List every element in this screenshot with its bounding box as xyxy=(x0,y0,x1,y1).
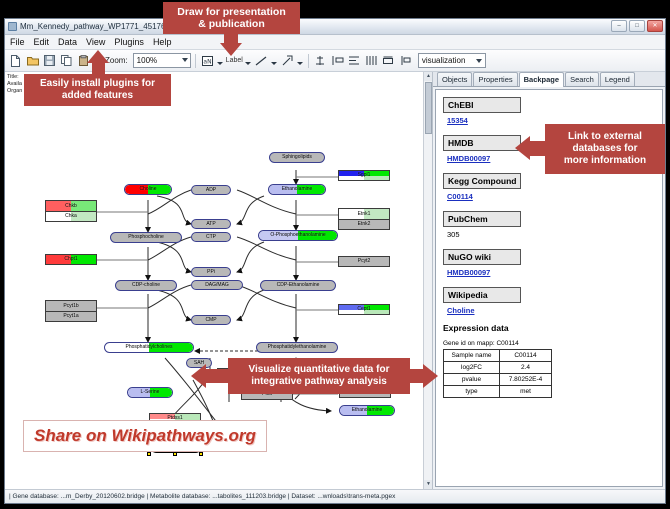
save-icon[interactable] xyxy=(42,53,57,69)
menu-help[interactable]: Help xyxy=(153,37,172,47)
node-label: Sphingolipids xyxy=(282,155,312,160)
node-label: Sgpl1 xyxy=(358,173,371,178)
node-ethanolamine-top[interactable]: Ethanolamine xyxy=(268,184,326,195)
node-label: L-Serine xyxy=(141,390,160,395)
row-key: pvalue xyxy=(444,374,500,386)
node-label: CDP-choline xyxy=(132,283,160,288)
menu-file[interactable]: File xyxy=(10,37,25,47)
status-bar: | Gene database: ...m_Derby_20120602.bri… xyxy=(5,489,665,503)
callout-visualize-arrow-left-icon xyxy=(191,364,206,388)
label-tool-label: Label xyxy=(226,57,243,64)
handle-se xyxy=(199,452,203,456)
expression-table: Sample name C00114 log2FC 2.4 pvalue 7.8… xyxy=(443,349,552,398)
section-heading-chebi: ChEBI xyxy=(443,97,521,113)
maximize-button[interactable]: □ xyxy=(629,20,645,32)
line-dropdown-icon[interactable] xyxy=(271,53,278,69)
callout-visualize-arrow-right-icon xyxy=(423,364,438,388)
minimize-button[interactable]: – xyxy=(611,20,627,32)
menu-bar: File Edit Data View Plugins Help xyxy=(5,35,665,50)
node-sphingolipids[interactable]: Sphingolipids xyxy=(269,152,325,163)
node-label: Ethanolamine xyxy=(352,408,383,413)
section-heading-kegg: Kegg Compound xyxy=(443,173,521,189)
callout-visualize-stem-left xyxy=(206,369,230,383)
node-label: O-Phosphoethanolamine xyxy=(270,233,325,238)
node-cmp[interactable]: CMP xyxy=(191,315,231,325)
node-ppi[interactable]: PPi xyxy=(191,267,231,277)
status-text: | Gene database: ...m_Derby_20120602.bri… xyxy=(9,493,395,500)
side-panel-tabs: Objects Properties Backpage Search Legen… xyxy=(433,72,665,87)
toolbar-separator xyxy=(308,54,309,68)
svg-text:aN: aN xyxy=(203,58,211,65)
align-center-icon[interactable] xyxy=(313,53,328,69)
node-label: Etnk2 xyxy=(358,222,371,227)
node-label: CMP xyxy=(205,318,216,323)
handle-s xyxy=(173,452,177,456)
table-row: pvalue 7.80252E-4 xyxy=(444,374,552,386)
menu-view[interactable]: View xyxy=(86,37,105,47)
node-dagmag[interactable]: DAG/MAG xyxy=(191,280,243,290)
scroll-up-icon[interactable]: ▲ xyxy=(424,72,433,81)
row-key: Sample name xyxy=(444,350,500,362)
node-label: PPi xyxy=(207,270,215,275)
order-icon[interactable] xyxy=(398,53,413,69)
row-value: C00114 xyxy=(500,350,552,362)
node-adp[interactable]: ADP xyxy=(191,185,231,195)
callout-visualize-stem-right xyxy=(408,369,424,383)
section-heading-hmdb: HMDB xyxy=(443,135,521,151)
row-key: type xyxy=(444,386,500,398)
section-heading-nugo: NuGO wiki xyxy=(443,249,521,265)
node-chkb[interactable]: Chkb xyxy=(45,200,97,211)
tab-legend[interactable]: Legend xyxy=(600,72,635,86)
node-l-serine-left[interactable]: L-Serine xyxy=(127,387,173,398)
callout-visualize: Visualize quantitative data for integrat… xyxy=(228,358,410,394)
datanode-icon[interactable]: aN xyxy=(200,53,215,69)
node-cdp-ethanolamine[interactable]: CDP-Ethanolamine xyxy=(260,280,336,291)
zoom-combo[interactable]: 100% xyxy=(133,53,191,68)
node-label: Pcyt1b xyxy=(63,304,78,309)
menu-data[interactable]: Data xyxy=(58,37,77,47)
wikipedia-link[interactable]: Choline xyxy=(447,306,655,315)
table-row: log2FC 2.4 xyxy=(444,362,552,374)
node-atp[interactable]: ATP xyxy=(191,219,231,229)
gene-id-line: Gene id on mapp: C00114 xyxy=(443,340,655,347)
node-etnk1[interactable]: Etnk1 xyxy=(338,208,390,219)
node-pcyt2[interactable]: Pcyt2 xyxy=(338,256,390,267)
table-row: type met xyxy=(444,386,552,398)
expression-data-title: Expression data xyxy=(443,323,655,333)
node-choline-top[interactable]: Choline xyxy=(124,184,172,195)
node-cdp-choline[interactable]: CDP-choline xyxy=(115,280,177,291)
node-label: Chkb xyxy=(65,204,77,209)
label-dropdown-icon[interactable] xyxy=(245,53,252,69)
copy-icon[interactable] xyxy=(59,53,74,69)
node-label: CTP xyxy=(206,235,216,240)
node-etnk2[interactable]: Etnk2 xyxy=(338,219,390,230)
arrow-dropdown-icon[interactable] xyxy=(297,53,304,69)
node-sgpl1[interactable]: Sgpl1 xyxy=(338,170,390,181)
node-cept1[interactable]: Cept1 xyxy=(338,304,390,315)
node-chpt1[interactable]: Chpt1 xyxy=(45,254,97,265)
align-left-icon[interactable] xyxy=(330,53,345,69)
menu-plugins[interactable]: Plugins xyxy=(114,37,144,47)
row-value: 7.80252E-4 xyxy=(500,374,552,386)
close-button[interactable]: ✕ xyxy=(647,20,663,32)
share-banner: Share on Wikipathways.org xyxy=(23,420,267,452)
nugo-link[interactable]: HMDB00097 xyxy=(447,268,655,277)
open-folder-icon[interactable] xyxy=(25,53,40,69)
callout-links-stem xyxy=(530,141,546,156)
node-label: Phosphatidylcholines xyxy=(126,345,173,350)
handle-sw xyxy=(147,452,151,456)
tab-search[interactable]: Search xyxy=(565,72,599,86)
zoom-value: 100% xyxy=(137,56,157,65)
node-label: Ethanolamine xyxy=(282,187,313,192)
node-pcyt1b[interactable]: Pcyt1b xyxy=(45,300,97,311)
node-label: Cept1 xyxy=(357,307,370,312)
arrow-shape-icon[interactable] xyxy=(280,53,295,69)
callout-plugins: Easily install plugins for added feature… xyxy=(24,74,171,106)
node-label: ATP xyxy=(206,222,215,227)
node-label: Phosphocholine xyxy=(128,235,164,240)
line-icon[interactable] xyxy=(254,53,269,69)
table-row: Sample name C00114 xyxy=(444,350,552,362)
canvas-scrollbar-vertical[interactable]: ▲ ▼ xyxy=(423,72,432,489)
node-label: Choline xyxy=(140,187,157,192)
node-phosphatidylcholines[interactable]: Phosphatidylcholines xyxy=(104,342,194,353)
tab-backpage[interactable]: Backpage xyxy=(519,72,564,87)
node-label: Chpt1 xyxy=(64,257,77,262)
row-value: met xyxy=(500,386,552,398)
toolbar-separator xyxy=(195,54,196,68)
node-label: Pcyt2 xyxy=(358,259,371,264)
node-ethanolamine-bottom[interactable]: Ethanolamine xyxy=(339,405,395,416)
callout-links: Link to external databases for more info… xyxy=(545,124,665,174)
node-o-phosphoethanolamine[interactable]: O-Phosphoethanolamine xyxy=(258,230,338,241)
node-label: CDP-Ethanolamine xyxy=(277,283,320,288)
tab-properties[interactable]: Properties xyxy=(473,72,517,86)
callout-draw: Draw for presentation & publication xyxy=(163,2,300,34)
row-key: log2FC xyxy=(444,362,500,374)
title-bar: Mm_Kennedy_pathway_WP1771_45176.gpml – □… xyxy=(5,19,665,35)
node-label: Phosphatidylethanolamine xyxy=(268,345,327,350)
section-heading-wikipedia: Wikipedia xyxy=(443,287,521,303)
visualization-combo[interactable]: visualization xyxy=(418,53,486,68)
window-controls: – □ ✕ xyxy=(611,20,663,32)
window-title: Mm_Kennedy_pathway_WP1771_45176.gpml xyxy=(20,22,185,31)
node-phosphatidylethanolamine[interactable]: Phosphatidylethanolamine xyxy=(256,342,338,353)
node-label: Pcyt1a xyxy=(63,314,78,319)
group-icon[interactable] xyxy=(381,53,396,69)
menu-edit[interactable]: Edit xyxy=(34,37,50,47)
node-label: DAG/MAG xyxy=(205,283,229,288)
scrollbar-thumb[interactable] xyxy=(425,82,432,134)
chevron-down-icon xyxy=(476,59,482,63)
distribute-columns-icon[interactable] xyxy=(364,53,379,69)
callout-draw-arrow-down-icon xyxy=(220,43,242,56)
kegg-link[interactable]: C00114 xyxy=(447,192,655,201)
callout-links-arrow-left-icon xyxy=(515,136,530,160)
tab-objects[interactable]: Objects xyxy=(437,72,472,86)
pubchem-value: 305 xyxy=(447,230,655,239)
scroll-down-icon[interactable]: ▼ xyxy=(424,480,433,489)
node-label: Chka xyxy=(65,214,77,219)
row-value: 2.4 xyxy=(500,362,552,374)
visualization-value: visualization xyxy=(422,56,466,65)
node-chka[interactable]: Chka xyxy=(45,211,97,222)
node-pcyt1a[interactable]: Pcyt1a xyxy=(45,311,97,322)
node-phosphocholine[interactable]: Phosphocholine xyxy=(110,232,182,243)
pathvisio-icon xyxy=(8,22,17,31)
distribute-rows-icon[interactable] xyxy=(347,53,362,69)
new-file-icon[interactable] xyxy=(8,53,23,69)
node-label: ADP xyxy=(206,188,216,193)
section-heading-pubchem: PubChem xyxy=(443,211,521,227)
chevron-down-icon xyxy=(182,58,188,62)
callout-plugins-arrow-up-icon xyxy=(87,50,109,63)
node-label: Etnk1 xyxy=(358,212,371,217)
node-ctp[interactable]: CTP xyxy=(191,232,231,242)
